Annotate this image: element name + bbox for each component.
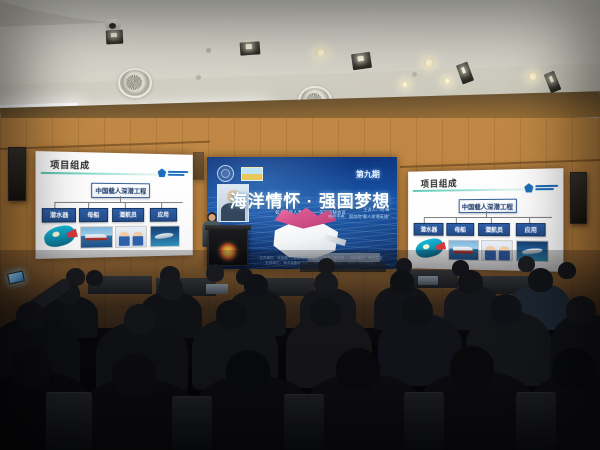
- left-thumb-aquanauts: [115, 226, 146, 248]
- audience-head: [390, 270, 414, 293]
- auditorium-seat: [516, 392, 556, 450]
- right-university-logo-icon: [524, 183, 558, 193]
- left-university-logo-icon: [158, 168, 189, 177]
- audience-head: [10, 348, 52, 388]
- right-org-node-2: 潜航员: [478, 223, 510, 236]
- ceiling-air-vent: [118, 68, 152, 98]
- right-org-node-1: 母船: [446, 223, 474, 236]
- presenter-face: [209, 214, 216, 221]
- ceiling-spotlight: [402, 82, 408, 87]
- audience-head: [16, 302, 46, 330]
- org-connector: [424, 217, 552, 218]
- auditorium-seat: [46, 392, 92, 450]
- right-org-node-0: 潜水器: [414, 223, 444, 236]
- ceiling-spotlight: [444, 78, 451, 84]
- ceiling-spotlight: [316, 48, 326, 57]
- ceiling-sensor: [412, 72, 417, 77]
- audience-head: [528, 268, 553, 292]
- audience-head: [86, 270, 103, 286]
- audience-laptop: [418, 276, 438, 285]
- program-flag-logo-icon: [241, 167, 263, 181]
- university-crest-mark: [524, 183, 533, 192]
- left-org-node-1: 母船: [79, 208, 108, 222]
- ceiling-light-fixture: [240, 41, 261, 55]
- banner-issue-label: 第九期: [356, 169, 380, 180]
- left-thumb-submersible: [44, 226, 75, 246]
- university-wordmark: [536, 185, 559, 190]
- left-org-node-0: 潜水器: [42, 208, 76, 222]
- wall-speaker-left: [8, 147, 26, 201]
- audience-head: [124, 304, 156, 334]
- audience-head: [158, 276, 183, 300]
- ceiling-sensor: [196, 75, 201, 80]
- organization-emblem-icon: [217, 165, 234, 182]
- ceiling-light-fixture: [106, 30, 124, 45]
- audience-head: [336, 348, 380, 390]
- audience-head: [552, 348, 596, 390]
- auditorium-seat: [284, 394, 324, 450]
- audience-head: [244, 274, 268, 297]
- audience-laptop: [206, 284, 228, 294]
- ceiling-light-fixture: [351, 52, 372, 70]
- auditorium-seat: [404, 392, 444, 450]
- left-projection-screen[interactable]: 项目组成 中国载人深潜工程 潜水器 母船 潜航员 应用: [36, 151, 193, 259]
- right-org-node-3: 应用: [516, 223, 546, 236]
- audience-head: [566, 296, 596, 324]
- wall-speaker-right: [570, 172, 587, 224]
- left-org-node-3: 应用: [149, 208, 176, 221]
- banner-host-line2: 中共中央、国务院“载人深潜英雄”: [328, 214, 389, 220]
- audience-head: [402, 296, 433, 325]
- audience-head: [450, 346, 494, 388]
- ceiling-sensor: [206, 48, 211, 53]
- left-slide-title: 项目组成: [50, 158, 90, 172]
- auditorium-seat: [172, 396, 212, 450]
- audience-head: [458, 270, 483, 294]
- left-org-node-2: 潜航员: [112, 208, 143, 222]
- audience-head: [310, 298, 341, 327]
- ceiling-spotlight: [424, 58, 434, 67]
- lecture-hall-photo: 项目组成 中国载人深潜工程 潜水器 母船 潜航员 应用: [0, 0, 600, 450]
- audience-head: [226, 350, 270, 392]
- podium-top-edge: [205, 225, 251, 230]
- audience-head: [558, 262, 576, 279]
- left-thumb-application: [149, 225, 179, 247]
- university-wordmark: [168, 170, 188, 175]
- university-crest-mark: [158, 168, 166, 177]
- wall-speaker-center-left: [193, 152, 204, 180]
- banner-host-block: 主讲人：刘 峰 中共中央、国务院“载人深潜英雄”: [328, 207, 389, 220]
- ceiling-spotlight: [528, 72, 538, 81]
- left-slide: 项目组成 中国载人深潜工程 潜水器 母船 潜航员 应用: [36, 151, 193, 259]
- audience-head: [216, 300, 247, 329]
- audience-head: [314, 272, 338, 295]
- org-connector: [54, 202, 183, 203]
- audience-head: [206, 264, 224, 282]
- right-slide-title: 项目组成: [421, 177, 458, 190]
- audience-head: [490, 294, 522, 324]
- left-thumb-mother-ship: [80, 226, 112, 248]
- audience-head: [112, 354, 156, 396]
- right-org-root-node: 中国载人深潜工程: [458, 199, 516, 213]
